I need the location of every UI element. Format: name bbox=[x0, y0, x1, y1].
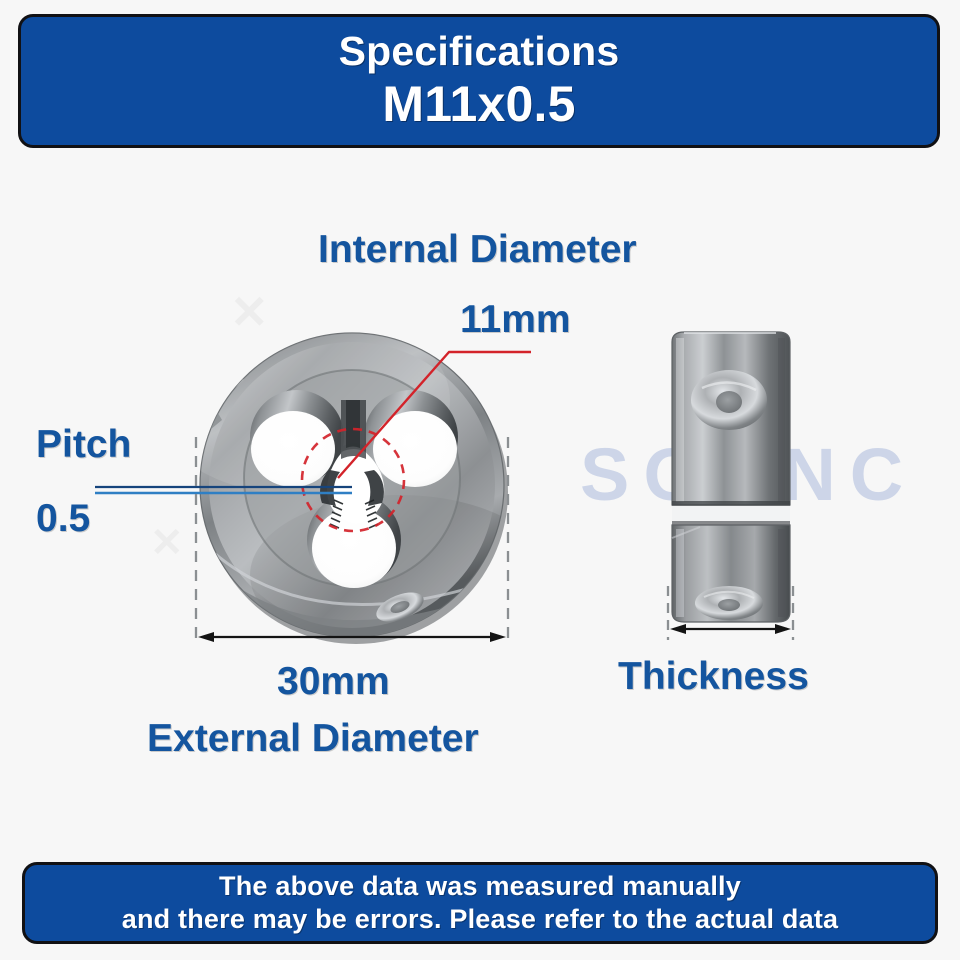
thickness-label: Thickness bbox=[618, 655, 809, 699]
set-screw-dimple-side-bottom bbox=[695, 586, 763, 620]
product-spec-figure: Specifications M11x0.5 ✕ ✕ SOCNC bbox=[0, 0, 960, 960]
set-screw-dimple-side-top bbox=[691, 370, 767, 430]
die-illustration bbox=[0, 0, 960, 960]
external-diameter-label: External Diameter bbox=[147, 717, 479, 761]
internal-diameter-value: 11mm bbox=[460, 298, 571, 342]
pitch-label: Pitch bbox=[36, 423, 131, 467]
disclaimer-line-1: The above data was measured manually bbox=[219, 870, 741, 903]
disclaimer-line-2: and there may be errors. Please refer to… bbox=[122, 903, 838, 936]
die-face-view bbox=[150, 305, 550, 663]
disclaimer-banner: The above data was measured manually and… bbox=[22, 862, 938, 944]
external-diameter-value: 30mm bbox=[277, 660, 390, 704]
internal-diameter-label: Internal Diameter bbox=[318, 228, 637, 272]
die-side-view bbox=[672, 332, 790, 622]
pitch-value: 0.5 bbox=[36, 497, 90, 541]
